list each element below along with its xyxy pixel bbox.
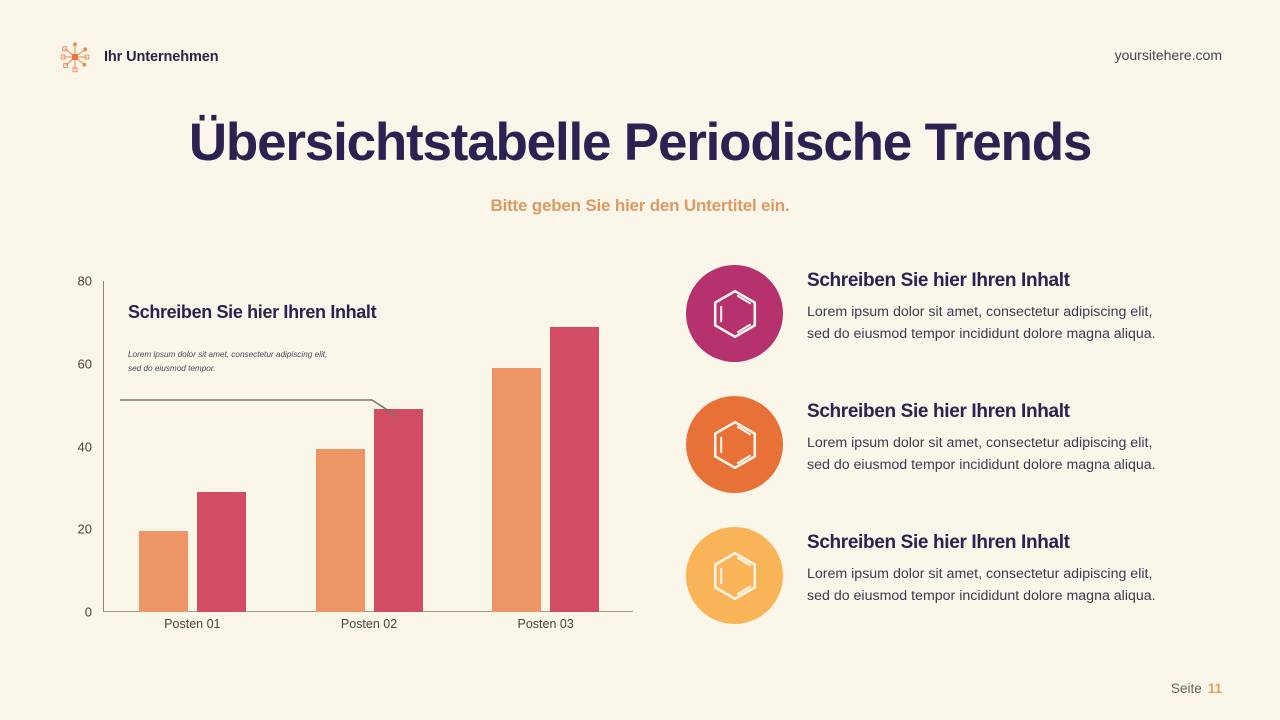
feature-item[interactable]: Schreiben Sie hier Ihren Inhalt Lorem ip… bbox=[686, 265, 1226, 362]
feature-list: Schreiben Sie hier Ihren Inhalt Lorem ip… bbox=[686, 265, 1226, 624]
feature-text: Schreiben Sie hier Ihren Inhalt Lorem ip… bbox=[807, 265, 1156, 345]
page-title: Übersichtstabelle Periodische Trends bbox=[0, 114, 1280, 172]
brand-name: Ihr Unternehmen bbox=[104, 49, 219, 65]
hexagon-benzene-icon bbox=[686, 265, 783, 362]
feature-title: Schreiben Sie hier Ihren Inhalt bbox=[807, 532, 1156, 554]
y-axis-tick: 20 bbox=[78, 522, 92, 537]
footer: Seite11 bbox=[1171, 681, 1222, 696]
page-subtitle: Bitte geben Sie hier den Untertitel ein. bbox=[0, 196, 1280, 216]
annotation-leader-line bbox=[120, 390, 420, 440]
feature-body: Lorem ipsum dolor sit amet, consectetur … bbox=[807, 432, 1156, 476]
y-axis-tick-labels: 020406080 bbox=[60, 272, 92, 612]
chart-plot-area bbox=[104, 281, 634, 612]
feature-item[interactable]: Schreiben Sie hier Ihren Inhalt Lorem ip… bbox=[686, 396, 1226, 493]
y-axis-tick: 60 bbox=[78, 356, 92, 371]
feature-title: Schreiben Sie hier Ihren Inhalt bbox=[807, 270, 1156, 292]
chart-bar bbox=[139, 531, 188, 612]
network-starburst-icon bbox=[58, 40, 92, 74]
feature-text: Schreiben Sie hier Ihren Inhalt Lorem ip… bbox=[807, 527, 1156, 607]
feature-body: Lorem ipsum dolor sit amet, consectetur … bbox=[807, 563, 1156, 607]
y-axis-tick: 0 bbox=[85, 605, 92, 620]
feature-body: Lorem ipsum dolor sit amet, consectetur … bbox=[807, 301, 1156, 345]
feature-item[interactable]: Schreiben Sie hier Ihren Inhalt Lorem ip… bbox=[686, 527, 1226, 624]
y-axis-tick: 40 bbox=[78, 439, 92, 454]
hexagon-benzene-icon bbox=[686, 527, 783, 624]
bar-chart: 020406080 Posten 01Posten 02Posten 03 Sc… bbox=[60, 272, 660, 642]
hexagon-benzene-icon bbox=[686, 396, 783, 493]
x-axis-tick: Posten 03 bbox=[518, 617, 574, 631]
chart-bar bbox=[197, 492, 246, 612]
chart-bar bbox=[316, 449, 365, 612]
brand: Ihr Unternehmen bbox=[58, 40, 219, 74]
feature-title: Schreiben Sie hier Ihren Inhalt bbox=[807, 401, 1156, 423]
y-axis-tick: 80 bbox=[78, 274, 92, 289]
chart-bar bbox=[492, 368, 541, 612]
chart-overlay-title: Schreiben Sie hier Ihren Inhalt bbox=[128, 302, 376, 323]
feature-text: Schreiben Sie hier Ihren Inhalt Lorem ip… bbox=[807, 396, 1156, 476]
site-url[interactable]: yoursitehere.com bbox=[1115, 47, 1222, 63]
chart-overlay-body: Lorem ipsum dolor sit amet, consectetur … bbox=[128, 348, 327, 375]
page-number: 11 bbox=[1208, 681, 1222, 696]
x-axis-tick: Posten 01 bbox=[164, 617, 220, 631]
x-axis-tick: Posten 02 bbox=[341, 617, 397, 631]
x-axis-category-labels: Posten 01Posten 02Posten 03 bbox=[104, 617, 634, 641]
slide: Ihr Unternehmen yoursitehere.com Übersic… bbox=[0, 0, 1280, 720]
chart-bar bbox=[550, 327, 599, 612]
page-label: Seite bbox=[1171, 681, 1202, 696]
